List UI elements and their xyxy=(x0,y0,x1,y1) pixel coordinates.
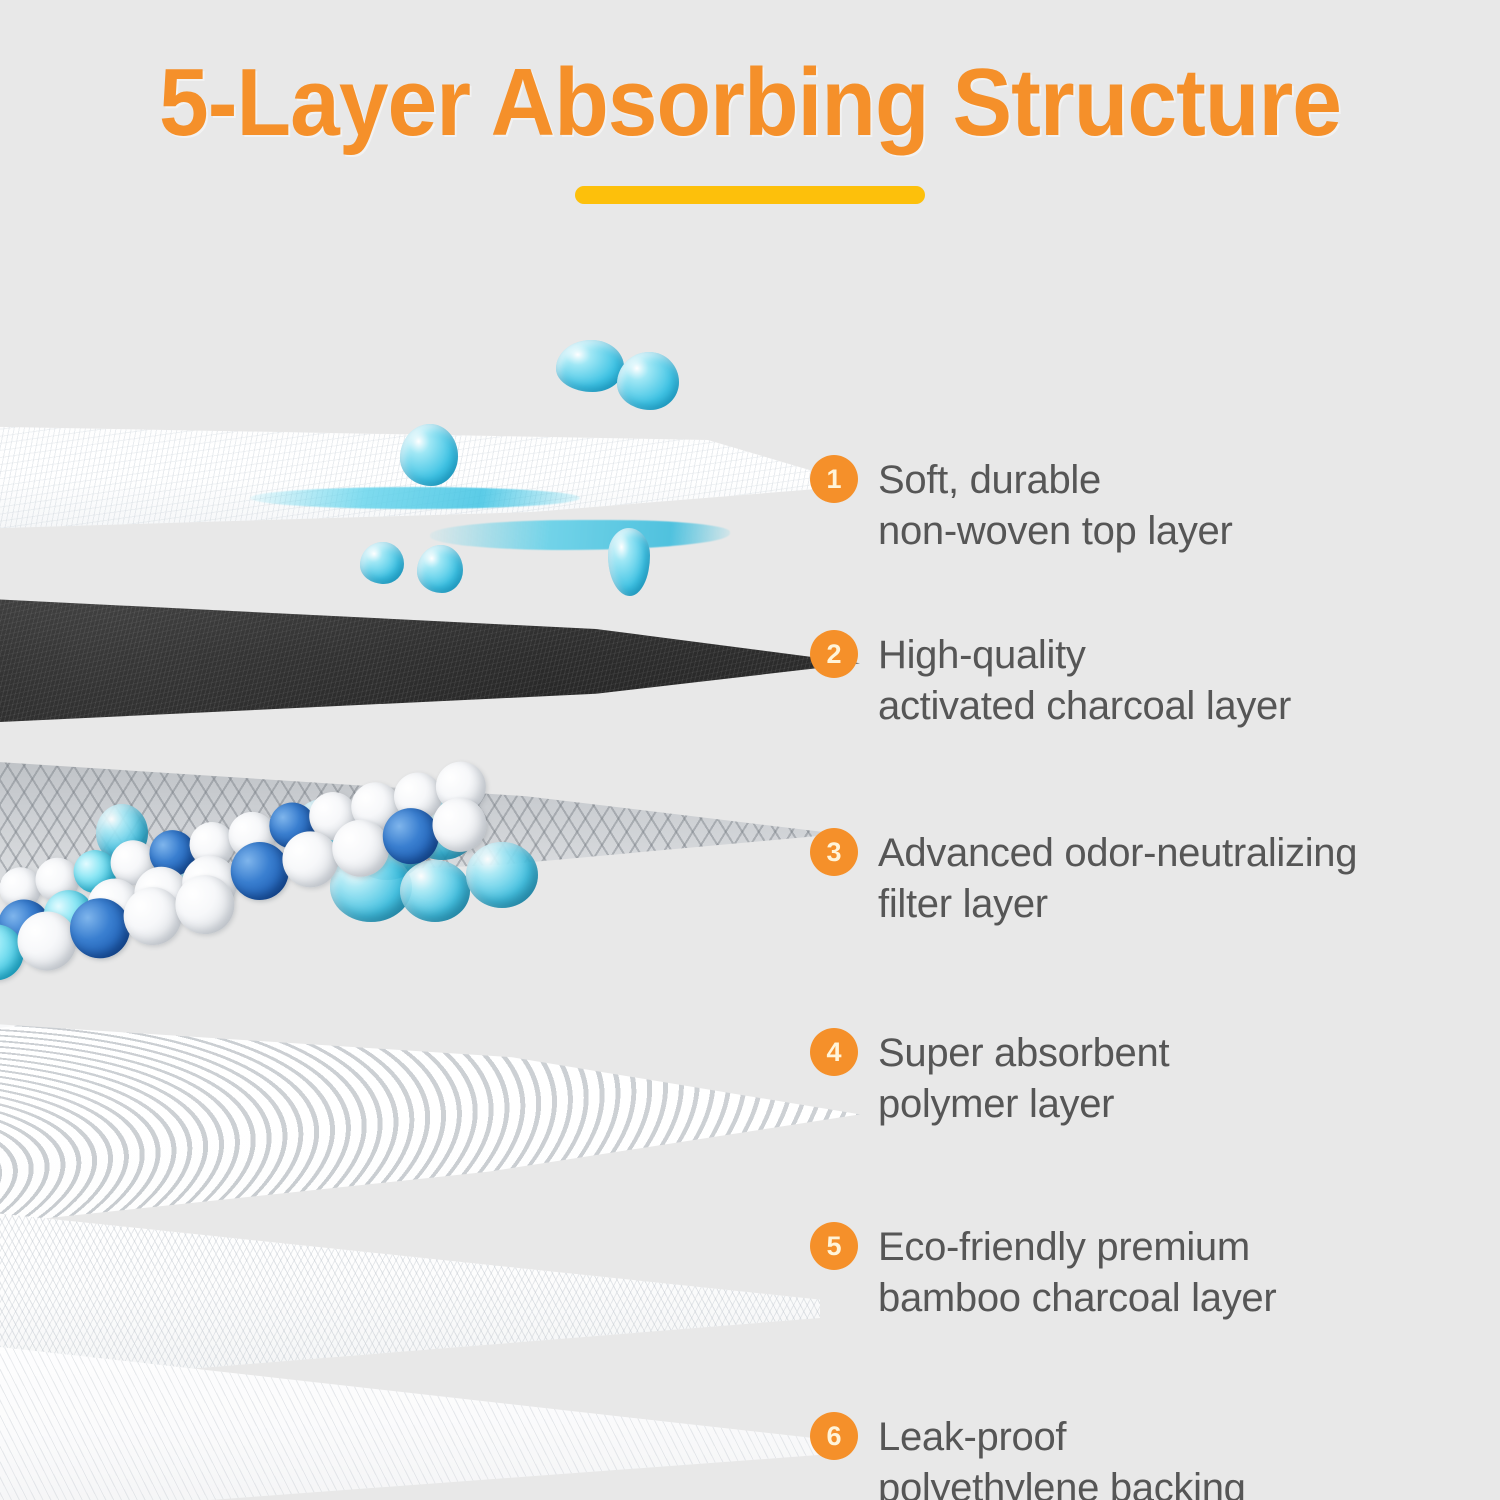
gel-blob xyxy=(400,860,470,922)
callout-badge-5: 5 xyxy=(810,1222,858,1270)
callout-label-3: Advanced odor-neutralizing filter layer xyxy=(878,828,1357,930)
callout-item-6: 6 Leak-proof polyethylene backing xyxy=(810,1412,1246,1500)
callout-item-4: 4 Super absorbent polymer layer xyxy=(810,1028,1169,1130)
callout-label-1: Soft, durable non-woven top layer xyxy=(878,455,1233,557)
water-droplet-below-sheet-a xyxy=(360,542,404,584)
callout-badge-2: 2 xyxy=(810,630,858,678)
water-droplet-below-sheet-b xyxy=(417,545,463,593)
callout-label-6: Leak-proof polyethylene backing xyxy=(878,1412,1246,1500)
callout-badge-1: 1 xyxy=(810,455,858,503)
callout-badge-6: 6 xyxy=(810,1412,858,1460)
charcoal-texture xyxy=(0,575,860,755)
callout-item-1: 1 Soft, durable non-woven top layer xyxy=(810,455,1233,557)
callout-item-3: 3 Advanced odor-neutralizing filter laye… xyxy=(810,828,1357,930)
activated-charcoal-sheet xyxy=(0,575,860,755)
callout-item-5: 5 Eco-friendly premium bamboo charcoal l… xyxy=(810,1222,1276,1324)
infographic-poster: 5-Layer Absorbing Structure xyxy=(0,0,1500,1500)
water-droplet-drip-right xyxy=(608,528,650,596)
water-droplet-falling-small xyxy=(617,352,679,410)
water-droplet-impact xyxy=(400,424,458,486)
callout-badge-3: 3 xyxy=(810,828,858,876)
gel-blob xyxy=(466,842,538,908)
callout-badge-4: 4 xyxy=(810,1028,858,1076)
water-splash-secondary xyxy=(430,520,730,550)
water-droplet-falling-large xyxy=(556,340,624,392)
callout-item-2: 2 High-quality activated charcoal layer xyxy=(810,630,1291,732)
callout-label-4: Super absorbent polymer layer xyxy=(878,1028,1169,1130)
callout-label-5: Eco-friendly premium bamboo charcoal lay… xyxy=(878,1222,1276,1324)
callout-label-2: High-quality activated charcoal layer xyxy=(878,630,1291,732)
water-splash xyxy=(250,487,580,509)
callout-list: 1 Soft, durable non-woven top layer 2 Hi… xyxy=(800,0,1500,1500)
